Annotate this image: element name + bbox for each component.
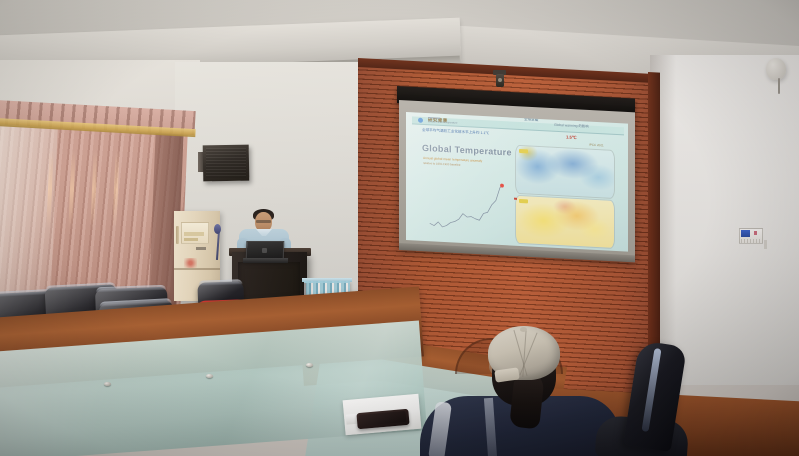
table-stud: [306, 363, 313, 367]
refrigerator-badge: [196, 247, 206, 250]
refrigerator-handle[interactable]: [176, 226, 179, 244]
slide-map-top: [516, 146, 614, 198]
map-top-tag: [519, 149, 528, 153]
slide-header-right: 全球变暖: [524, 117, 538, 123]
slide-line-chart: [426, 175, 506, 235]
microphone-icon: [214, 224, 221, 234]
map-bottom-tag: [519, 199, 528, 203]
wall-switch[interactable]: [764, 240, 767, 249]
map-divider-tick: [514, 198, 517, 200]
control-panel-indicator-icon: [754, 231, 757, 235]
cap-button-icon: [520, 327, 527, 332]
slide-subline-source: IPCC 2021: [589, 143, 604, 148]
slide-map-bottom: [516, 196, 614, 248]
temperature-anomaly-chart-svg: [426, 175, 506, 235]
table-stud: [104, 382, 111, 386]
conference-room-screenshot: 研究背景 全球变暖 Global warming 的影响 全球平均气温较工业化前…: [0, 0, 799, 456]
table-stud: [206, 374, 213, 378]
glasses-icon: [256, 220, 271, 223]
refrigerator-panel-label-2: [184, 238, 198, 241]
ceiling-camera-lens: [498, 78, 502, 82]
control-panel-display: [741, 230, 750, 237]
refrigerator-door-split: [174, 268, 220, 270]
projector-screen-surface: 研究背景 全球变暖 Global warming 的影响 全球平均气温较工业化前…: [406, 112, 628, 252]
refrigerator-sticker: [184, 258, 197, 268]
refrigerator-panel-label: [184, 232, 204, 236]
slide-subline: 全球平均气温较工业化前水平上升约 1.1℃: [422, 128, 489, 137]
laptop-keyboard[interactable]: [243, 258, 288, 263]
speaker-grill: [206, 148, 246, 178]
wall-mounted-device: [766, 58, 786, 80]
control-panel-buttons[interactable]: [741, 239, 760, 243]
slide-logo-icon: [418, 118, 423, 123]
slide-subheading-2: relative to 1850-1900 baseline: [423, 161, 460, 167]
laptop-logo-icon: [262, 248, 267, 253]
slide-heading: Global Temperature: [422, 143, 512, 158]
wall-device-cord: [778, 78, 780, 94]
slide-subline-highlight: 1.5℃: [566, 134, 577, 140]
